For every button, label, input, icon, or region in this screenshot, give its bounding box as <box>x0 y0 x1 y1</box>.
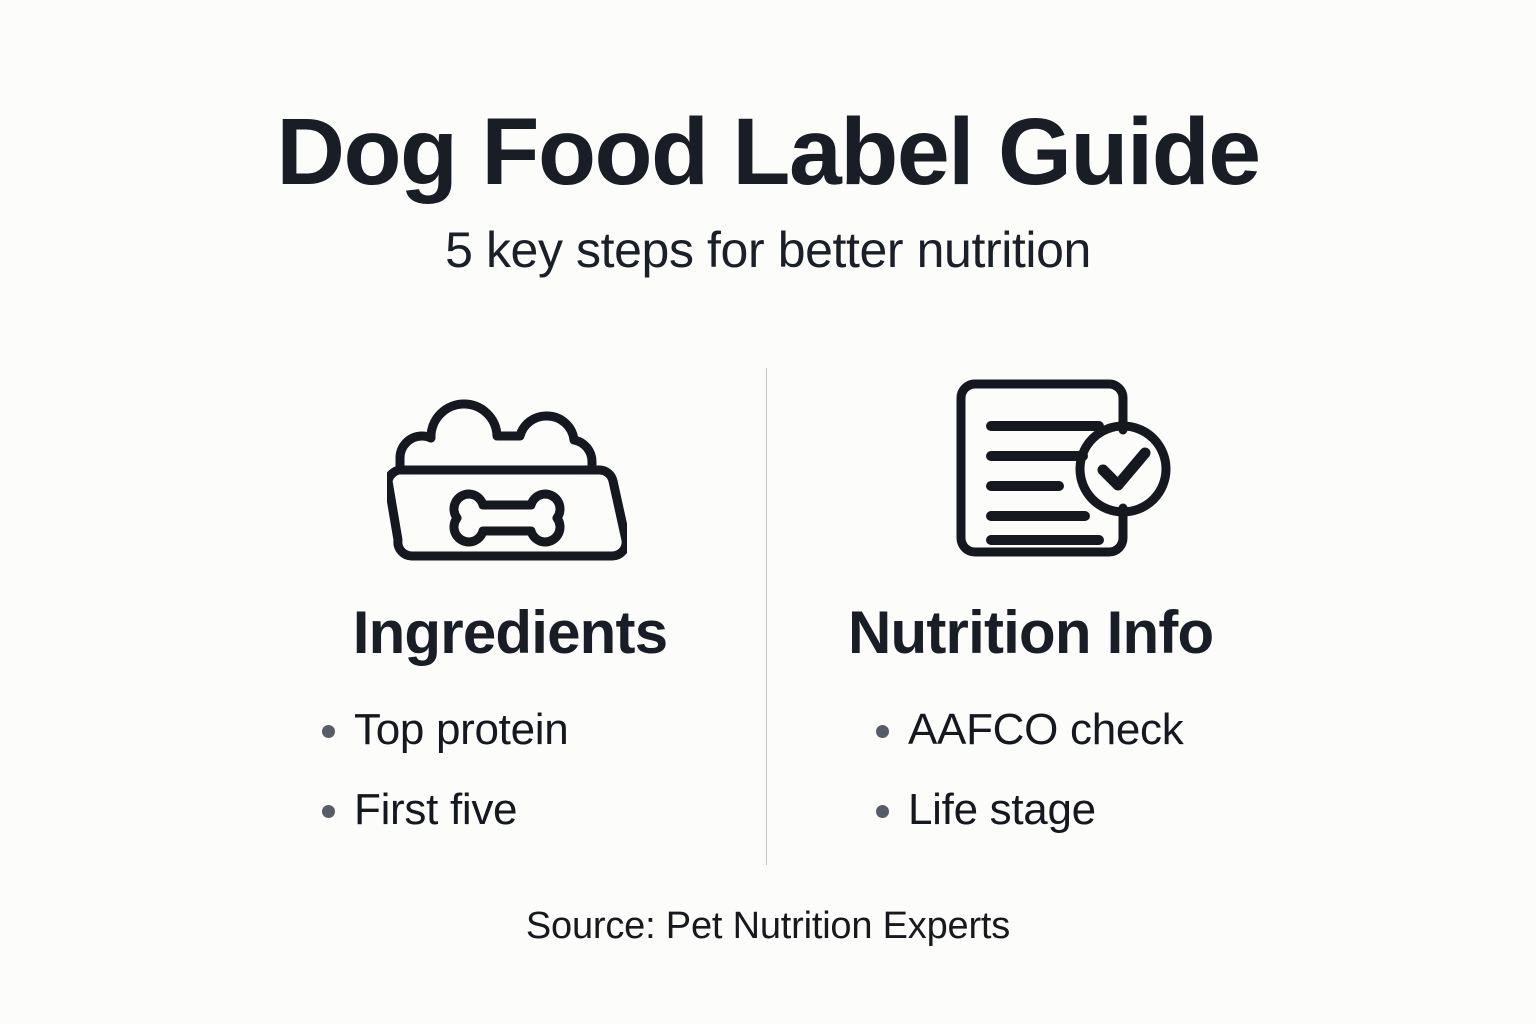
bullet-label: Life stage <box>908 788 1096 832</box>
page-title: Dog Food Label Guide <box>0 104 1536 201</box>
header: Dog Food Label Guide 5 key steps for bet… <box>0 104 1536 278</box>
bullet-dot-icon <box>322 725 335 738</box>
bullet-list-nutrition-info: AAFCO check Life stage <box>848 707 1248 833</box>
column-heading-nutrition-info: Nutrition Info <box>848 603 1248 663</box>
list-item: Top protein <box>322 707 700 753</box>
list-item: AAFCO check <box>876 707 1248 753</box>
bullet-list-ingredients: Top protein First five <box>320 707 700 833</box>
footer: Source: Pet Nutrition Experts <box>0 905 1536 948</box>
column-nutrition-info: Nutrition Info AAFCO check Life stage <box>768 368 1536 868</box>
bullet-label: AAFCO check <box>908 708 1183 752</box>
page-subtitle: 5 key steps for better nutrition <box>0 223 1536 278</box>
infographic-root: Dog Food Label Guide 5 key steps for bet… <box>0 0 1536 1024</box>
list-item: First five <box>322 787 700 833</box>
columns-container: Ingredients Top protein First five <box>0 368 1536 868</box>
document-check-icon <box>848 368 1248 568</box>
source-attribution: Source: Pet Nutrition Experts <box>0 905 1536 948</box>
dog-food-bowl-icon <box>320 368 700 568</box>
list-item: Life stage <box>876 787 1248 833</box>
bullet-dot-icon <box>876 725 889 738</box>
bullet-label: First five <box>354 788 517 832</box>
bullet-label: Top protein <box>354 708 568 752</box>
bullet-dot-icon <box>876 805 889 818</box>
column-heading-ingredients: Ingredients <box>320 603 700 663</box>
column-ingredients: Ingredients Top protein First five <box>0 368 768 868</box>
bullet-dot-icon <box>322 805 335 818</box>
